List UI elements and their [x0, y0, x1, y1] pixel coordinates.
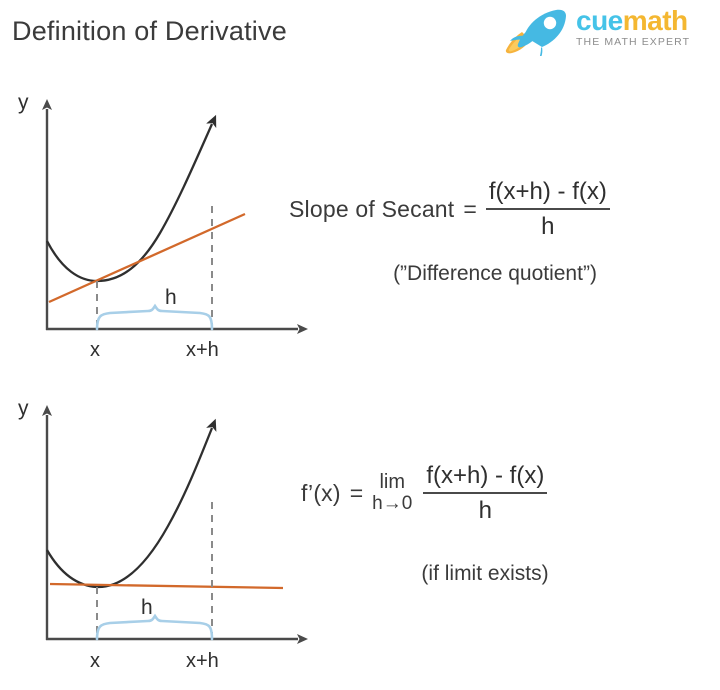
derivative-definition-formula: f’(x) = lim h→0 f(x+h) - f(x) h (if limi…: [285, 462, 720, 612]
fraction-denominator: h: [479, 494, 492, 525]
logo-tagline: THE MATH EXPERT: [576, 36, 712, 49]
function-curve: [47, 124, 212, 281]
x-tick-label-xh: x+h: [186, 650, 219, 672]
page-title: Definition of Derivative: [12, 16, 287, 47]
formula-fraction: f(x+h) - f(x) h: [486, 178, 610, 240]
limit-keyword: lim: [379, 472, 405, 494]
secant-line: [49, 214, 245, 302]
interval-brace: [97, 616, 212, 639]
x-tick-label-x: x: [90, 650, 100, 672]
logo-wordmark-group: cuemath THE MATH EXPERT: [576, 6, 712, 49]
fraction-denominator: h: [541, 210, 554, 241]
formula-equals-sign: =: [463, 196, 476, 223]
formula-lhs: f’(x): [301, 480, 341, 507]
fraction-numerator: f(x+h) - f(x): [486, 178, 610, 208]
y-axis-label: y: [18, 91, 29, 114]
interval-label-h: h: [141, 596, 153, 619]
interval-brace: [97, 306, 212, 329]
logo-math-text: math: [623, 5, 688, 36]
tangent-line: [50, 584, 283, 588]
interval-label-h: h: [165, 286, 177, 309]
function-curve: [47, 428, 212, 587]
secant-figure: y h x x+h: [0, 78, 320, 368]
formula-equation-row: Slope of Secant = f(x+h) - f(x) h: [289, 178, 610, 240]
formula-fraction: f(x+h) - f(x) h: [423, 462, 547, 524]
limit-condition: h→0: [372, 494, 412, 515]
page-header: Definition of Derivative cuemath THE M: [0, 0, 720, 70]
x-tick-label-xh: x+h: [186, 339, 219, 361]
formula-lhs: Slope of Secant: [289, 196, 454, 223]
formula-caption: (if limit exists): [285, 562, 685, 586]
logo-wordmark: cuemath: [576, 6, 712, 36]
fraction-numerator: f(x+h) - f(x): [423, 462, 547, 492]
tangent-figure: y h x x+h: [0, 382, 320, 682]
logo-cue-text: cue: [576, 5, 623, 36]
x-tick-label-x: x: [90, 339, 100, 361]
formula-equation-row: f’(x) = lim h→0 f(x+h) - f(x) h: [301, 462, 547, 524]
limit-operator: lim h→0: [372, 472, 412, 514]
rocket-icon: [500, 6, 572, 56]
y-axis-label: y: [18, 397, 29, 420]
formula-caption: (”Difference quotient”): [285, 262, 705, 286]
cuemath-logo: cuemath THE MATH EXPERT: [500, 4, 712, 56]
formula-equals-sign: =: [350, 480, 363, 507]
slope-of-secant-formula: Slope of Secant = f(x+h) - f(x) h (”Diff…: [285, 178, 720, 308]
